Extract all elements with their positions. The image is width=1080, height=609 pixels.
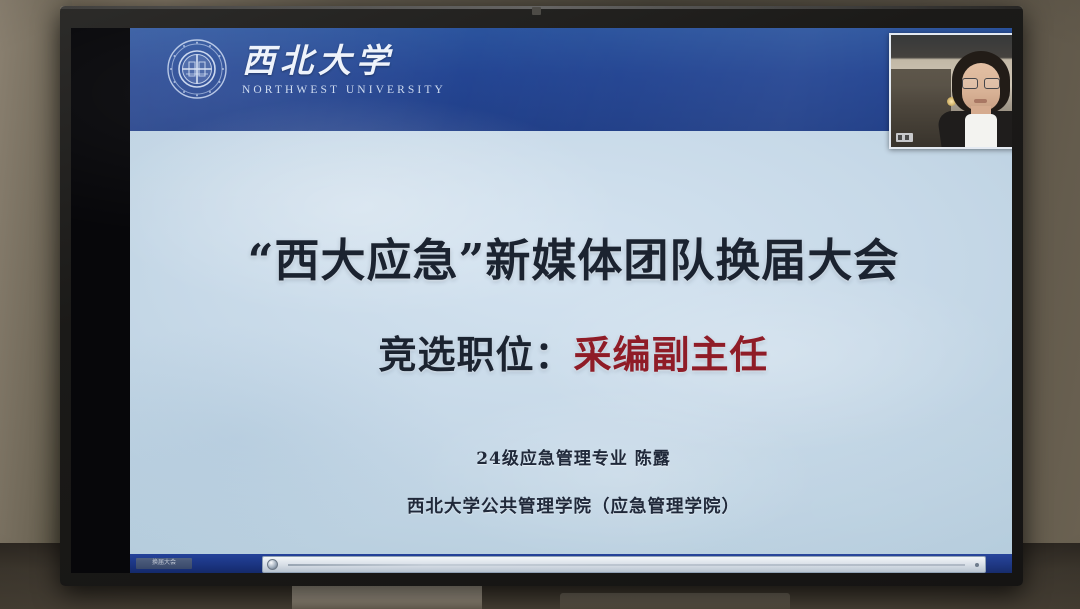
bezel-highlight xyxy=(60,6,1023,9)
taskbar-window-button[interactable]: 换届大会 xyxy=(136,558,192,569)
presenter-info: 24级应急管理专业 陈露 xyxy=(130,444,1012,469)
university-branding: 西北大学 NORTHWEST UNIVERSITY xyxy=(166,38,446,100)
presentation-window[interactable]: 西北大学 NORTHWEST UNIVERSITY xyxy=(130,28,1012,573)
presentation-toolbar[interactable] xyxy=(262,556,986,573)
screenshot-stage: 西北大学 NORTHWEST UNIVERSITY xyxy=(0,0,1080,609)
toolbar-separator xyxy=(288,564,965,566)
camera-indicator-icon xyxy=(896,133,913,142)
slide-text-body: “西大应急”新媒体团队换届大会 竞选职位：采编副主任 24级应急管理专业 陈露 … xyxy=(130,131,1012,554)
desk-object-secondary xyxy=(560,593,790,609)
affiliation-info: 西北大学公共管理学院（应急管理学院） xyxy=(130,493,1012,518)
webcam-video-overlay[interactable] xyxy=(889,33,1012,149)
monitor-screen: 西北大学 NORTHWEST UNIVERSITY xyxy=(71,28,1012,573)
monitor-bezel: 西北大学 NORTHWEST UNIVERSITY xyxy=(60,6,1023,586)
slide-subtitle: 竞选职位：采编副主任 xyxy=(130,324,1012,379)
participant-shirt xyxy=(965,114,997,147)
taskbar-window-label: 换届大会 xyxy=(136,558,192,569)
brand-name-cn: 西北大学 xyxy=(242,44,446,77)
slide-canvas[interactable]: 西北大学 NORTHWEST UNIVERSITY xyxy=(130,28,1012,554)
close-dot-icon[interactable] xyxy=(975,563,979,567)
subtitle-position: 采编副主任 xyxy=(574,332,769,377)
slide-main-title: “西大应急”新媒体团队换届大会 xyxy=(130,224,1012,289)
monitor-webcam-icon xyxy=(532,7,541,15)
university-seal-icon xyxy=(166,38,228,100)
subtitle-label: 竞选职位： xyxy=(378,332,573,377)
taskbar[interactable]: 换届大会 xyxy=(130,554,1012,573)
participant-glasses-icon xyxy=(962,78,1000,88)
office-orb-icon[interactable] xyxy=(267,559,278,570)
video-participant xyxy=(943,51,1012,147)
brand-text: 西北大学 NORTHWEST UNIVERSITY xyxy=(242,42,446,97)
participant-mouth xyxy=(974,99,987,103)
slide-header-band: 西北大学 NORTHWEST UNIVERSITY xyxy=(130,28,1012,131)
brand-name-en: NORTHWEST UNIVERSITY xyxy=(242,85,446,97)
desk-object xyxy=(292,583,482,609)
